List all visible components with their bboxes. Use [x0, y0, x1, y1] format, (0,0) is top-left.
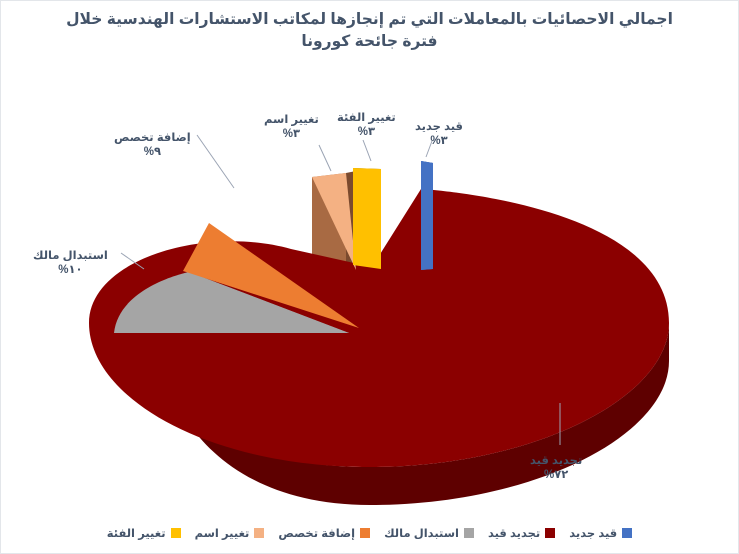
pie-chart-figure: اجمالي الاحصائيات بالمعاملات التي تم إنج…: [0, 0, 739, 554]
leader-line-idafa-takhassus: [197, 135, 234, 188]
data-label-istibdal-malik: استبدال مالك ١٠%: [33, 249, 108, 278]
data-label-name: تغيير اسم: [264, 113, 319, 127]
legend-swatch-icon: [254, 528, 264, 538]
legend-swatch-icon: [360, 528, 370, 538]
data-label-name: استبدال مالك: [33, 249, 108, 263]
legend-label: إضافة تخصص: [278, 526, 355, 540]
data-label-value: ١٠%: [33, 263, 108, 277]
data-label-name: إضافة تخصص: [114, 131, 191, 145]
data-label-tajdeed-qaid: تجديد قيد ٧٢%: [530, 454, 582, 483]
legend-label: استبدال مالك: [384, 526, 459, 540]
data-label-name: تغيير الفئة: [337, 111, 396, 125]
data-label-name: تجديد قيد: [530, 454, 582, 468]
chart-title-line-2: فترة جائحة كورونا: [41, 31, 698, 53]
slice-top-qaid-jadeed[interactable]: [421, 161, 433, 270]
legend-item-qaid-jadeed[interactable]: قيد جديد: [569, 526, 632, 540]
legend-item-tajdeed-qaid[interactable]: تجديد قيد: [488, 526, 555, 540]
legend-label: قيد جديد: [569, 526, 617, 540]
data-label-value: ٣%: [415, 134, 463, 148]
legend-swatch-icon: [545, 528, 555, 538]
legend-item-taghyeer-ism[interactable]: تغيير اسم: [195, 526, 265, 540]
legend-swatch-icon: [171, 528, 181, 538]
data-label-value: ٣%: [264, 127, 319, 141]
plot-area: قيد جديد ٣% تغيير الفئة ٣% تغيير اسم ٣% …: [1, 73, 739, 505]
data-label-value: ٩%: [114, 145, 191, 159]
legend-item-istibdal-malik[interactable]: استبدال مالك: [384, 526, 474, 540]
legend-label: تجديد قيد: [488, 526, 540, 540]
data-label-taghyeer-ism: تغيير اسم ٣%: [264, 113, 319, 142]
data-label-name: قيد جديد: [415, 120, 463, 134]
data-label-value: ٧٢%: [530, 468, 582, 482]
data-label-value: ٣%: [337, 125, 396, 139]
legend-label: تغيير الفئة: [107, 526, 166, 540]
legend-label: تغيير اسم: [195, 526, 250, 540]
data-label-taghyeer-alfia: تغيير الفئة ٣%: [337, 111, 396, 140]
legend-item-taghyeer-alfia[interactable]: تغيير الفئة: [107, 526, 181, 540]
leader-line-taghyeer-ism: [319, 145, 331, 171]
chart-title-line-1: اجمالي الاحصائيات بالمعاملات التي تم إنج…: [41, 9, 698, 31]
leader-line-taghyeer-alfia: [363, 140, 371, 161]
legend-item-idafa-takhassus[interactable]: إضافة تخصص: [278, 526, 370, 540]
legend-swatch-icon: [622, 528, 632, 538]
data-label-qaid-jadeed: قيد جديد ٣%: [415, 120, 463, 149]
chart-legend: قيد جديد تجديد قيد استبدال مالك إضافة تخ…: [1, 521, 738, 545]
chart-title: اجمالي الاحصائيات بالمعاملات التي تم إنج…: [1, 9, 738, 54]
slice-top-taghyeer-alfia[interactable]: [353, 168, 381, 269]
data-label-idafa-takhassus: إضافة تخصص ٩%: [114, 131, 191, 160]
legend-swatch-icon: [464, 528, 474, 538]
